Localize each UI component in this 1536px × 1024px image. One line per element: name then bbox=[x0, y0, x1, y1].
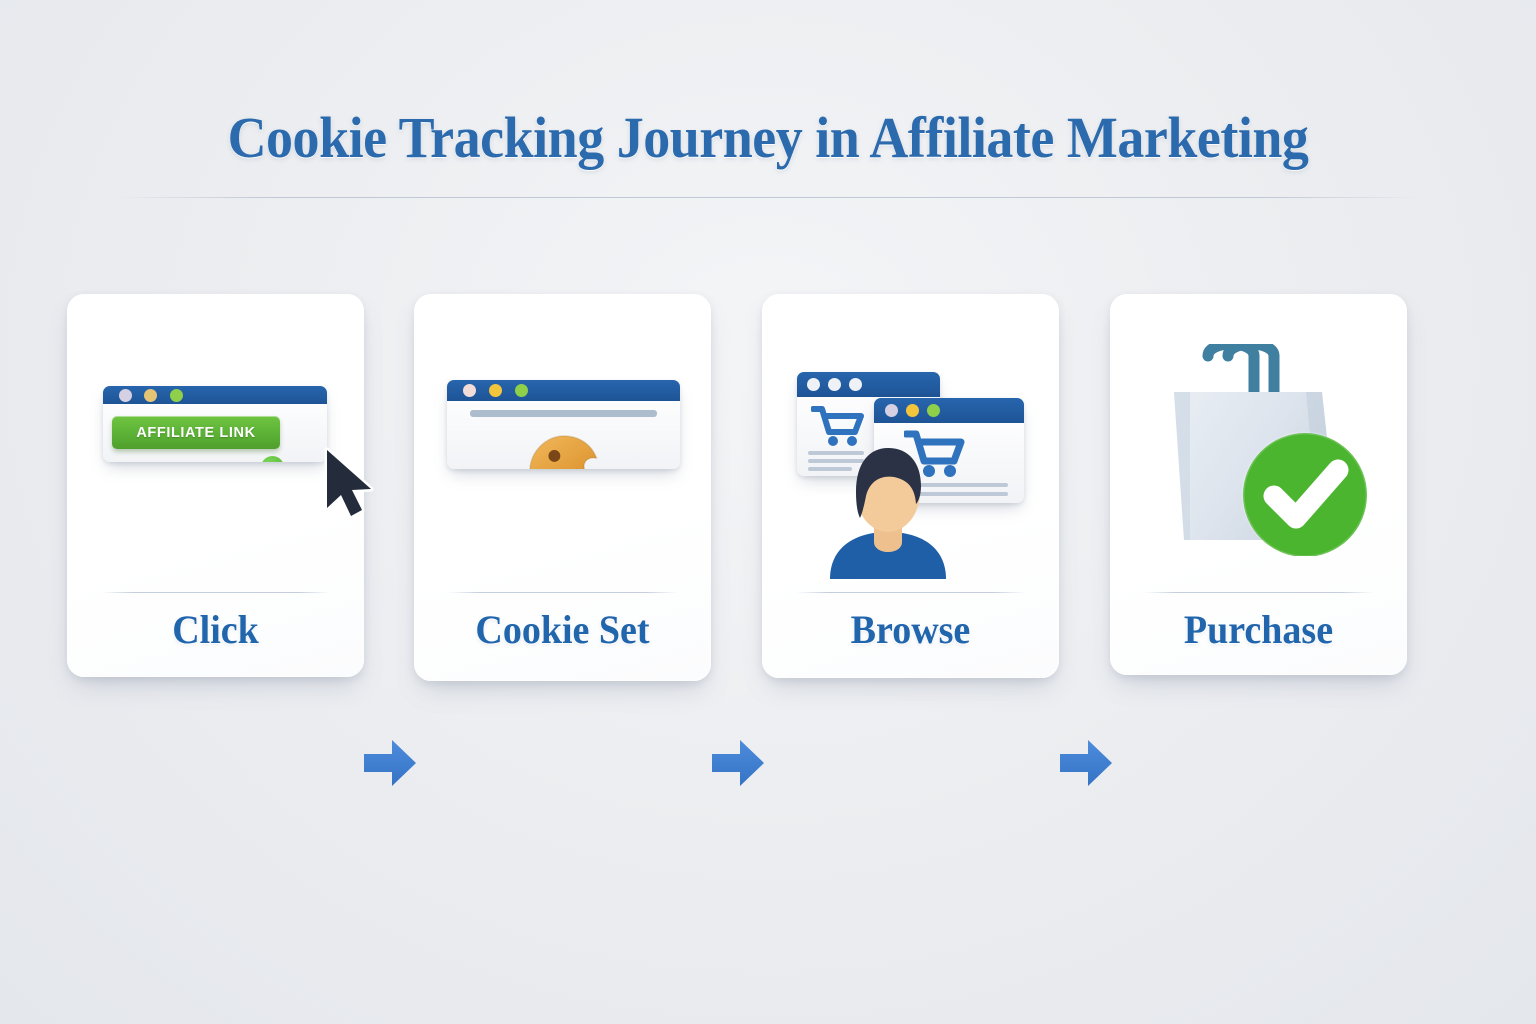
browser-dot-white-icon bbox=[807, 378, 820, 391]
browser-dot-gold-icon bbox=[144, 389, 157, 402]
purchase-artwork bbox=[1110, 294, 1407, 586]
browser-content: AFFILIATE LINK bbox=[103, 404, 327, 462]
browser-dot-green-icon bbox=[927, 404, 940, 417]
cookie-icon bbox=[527, 433, 601, 469]
arrow-right-icon bbox=[710, 737, 766, 789]
click-artwork: AFFILIATE LINK bbox=[67, 294, 364, 586]
browser-dot-green-icon bbox=[170, 389, 183, 402]
flow-step-card-browse[interactable]: Browse bbox=[762, 294, 1059, 678]
page-title: Cookie Tracking Journey in Affiliate Mar… bbox=[54, 104, 1482, 171]
browser-dot-yellow-icon bbox=[489, 384, 502, 397]
affiliate-link-button-label: AFFILIATE LINK bbox=[136, 425, 255, 441]
flow-step-card-purchase[interactable]: Purchase bbox=[1110, 294, 1407, 675]
arrow-right-icon bbox=[1058, 737, 1114, 789]
cookie-set-artwork bbox=[414, 294, 711, 586]
affiliate-link-button[interactable]: AFFILIATE LINK bbox=[112, 416, 280, 449]
flow-step-label-purchase: Purchase bbox=[1117, 606, 1399, 653]
flow-step-label-cookie-set: Cookie Set bbox=[421, 606, 703, 653]
arrow-right-icon bbox=[362, 737, 418, 789]
cursor-arrow-icon bbox=[319, 446, 381, 520]
browse-artwork bbox=[762, 294, 1059, 586]
browser-title-bar bbox=[797, 372, 940, 397]
flow-step-label-browse: Browse bbox=[769, 606, 1051, 653]
address-bar bbox=[470, 410, 656, 417]
shopper-avatar-icon bbox=[822, 444, 954, 579]
browser-title-bar bbox=[874, 398, 1024, 423]
shopping-bag-icon bbox=[1150, 344, 1368, 556]
shopping-cart-icon bbox=[811, 405, 865, 447]
flow-diagram: AFFILIATE LINK Click bbox=[0, 294, 1536, 694]
title-divider bbox=[115, 197, 1421, 198]
browser-title-bar bbox=[103, 386, 327, 404]
browser-dot-yellow-icon bbox=[906, 404, 919, 417]
flow-step-label-click: Click bbox=[74, 606, 356, 653]
flow-step-card-click[interactable]: AFFILIATE LINK Click bbox=[67, 294, 364, 677]
click-highlight-dot-icon bbox=[261, 456, 284, 462]
browser-dot-green-icon bbox=[515, 384, 528, 397]
browser-dot-pink-icon bbox=[463, 384, 476, 397]
browser-dot-white-icon bbox=[828, 378, 841, 391]
browser-content bbox=[447, 401, 680, 469]
card-divider bbox=[796, 592, 1025, 593]
browser-dot-lavender-icon bbox=[119, 389, 132, 402]
card-divider bbox=[448, 592, 677, 593]
card-divider bbox=[1144, 592, 1373, 593]
browser-title-bar bbox=[447, 380, 680, 401]
browser-window-icon bbox=[447, 380, 680, 469]
card-divider bbox=[101, 592, 330, 593]
browser-window-icon: AFFILIATE LINK bbox=[103, 386, 327, 462]
browser-dot-white-icon bbox=[849, 378, 862, 391]
flow-step-card-cookie-set[interactable]: Cookie Set bbox=[414, 294, 711, 681]
browser-dot-lavender-icon bbox=[885, 404, 898, 417]
